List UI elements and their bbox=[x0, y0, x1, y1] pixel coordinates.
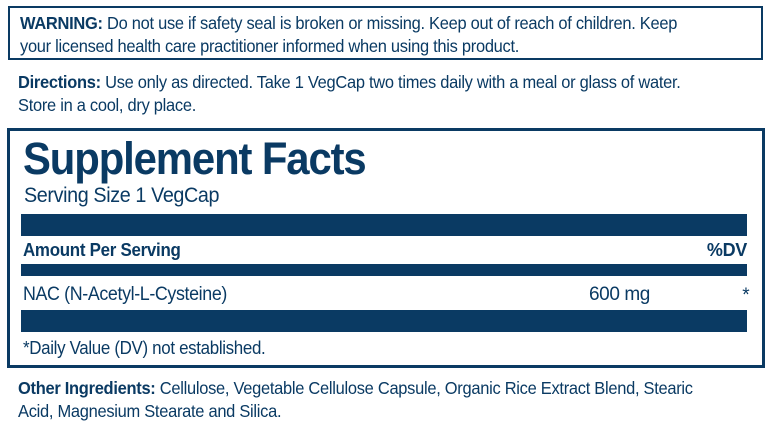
rule-bottom-thick bbox=[21, 310, 747, 332]
nutrient-amount: 600 mg bbox=[589, 283, 650, 307]
warning-body: Do not use if safety seal is broken or m… bbox=[20, 13, 677, 56]
supplement-facts-panel: Supplement Facts Serving Size 1 VegCap A… bbox=[7, 128, 765, 368]
rule-top-thick bbox=[21, 214, 747, 236]
column-header-daily-value: %DV bbox=[707, 239, 747, 261]
other-ingredients-heading: Other Ingredients: bbox=[18, 378, 156, 398]
column-header-amount-per-serving: Amount Per Serving bbox=[23, 239, 181, 261]
directions-heading: Directions: bbox=[18, 72, 101, 92]
nutrient-daily-value: * bbox=[736, 284, 756, 308]
other-ingredients-text: Other Ingredients: Cellulose, Vegetable … bbox=[18, 377, 718, 423]
nutrient-name: NAC (N-Acetyl-L-Cysteine) bbox=[23, 283, 227, 307]
warning-box: WARNING: Do not use if safety seal is br… bbox=[8, 6, 763, 60]
warning-text: WARNING: Do not use if safety seal is br… bbox=[20, 12, 712, 58]
rule-middle-thin bbox=[21, 264, 747, 276]
directions-body: Use only as directed. Take 1 VegCap two … bbox=[18, 72, 681, 115]
directions-text: Directions: Use only as directed. Take 1… bbox=[18, 71, 714, 117]
table-row: NAC (N-Acetyl-L-Cysteine) 600 mg * bbox=[23, 283, 747, 309]
warning-heading: WARNING: bbox=[20, 13, 103, 33]
serving-size: Serving Size 1 VegCap bbox=[24, 184, 219, 208]
supplement-label: WARNING: Do not use if safety seal is br… bbox=[0, 0, 773, 428]
table-header-row: Amount Per Serving %DV bbox=[23, 239, 747, 263]
supplement-facts-title: Supplement Facts bbox=[23, 135, 366, 183]
daily-value-footnote: *Daily Value (DV) not established. bbox=[23, 337, 265, 360]
